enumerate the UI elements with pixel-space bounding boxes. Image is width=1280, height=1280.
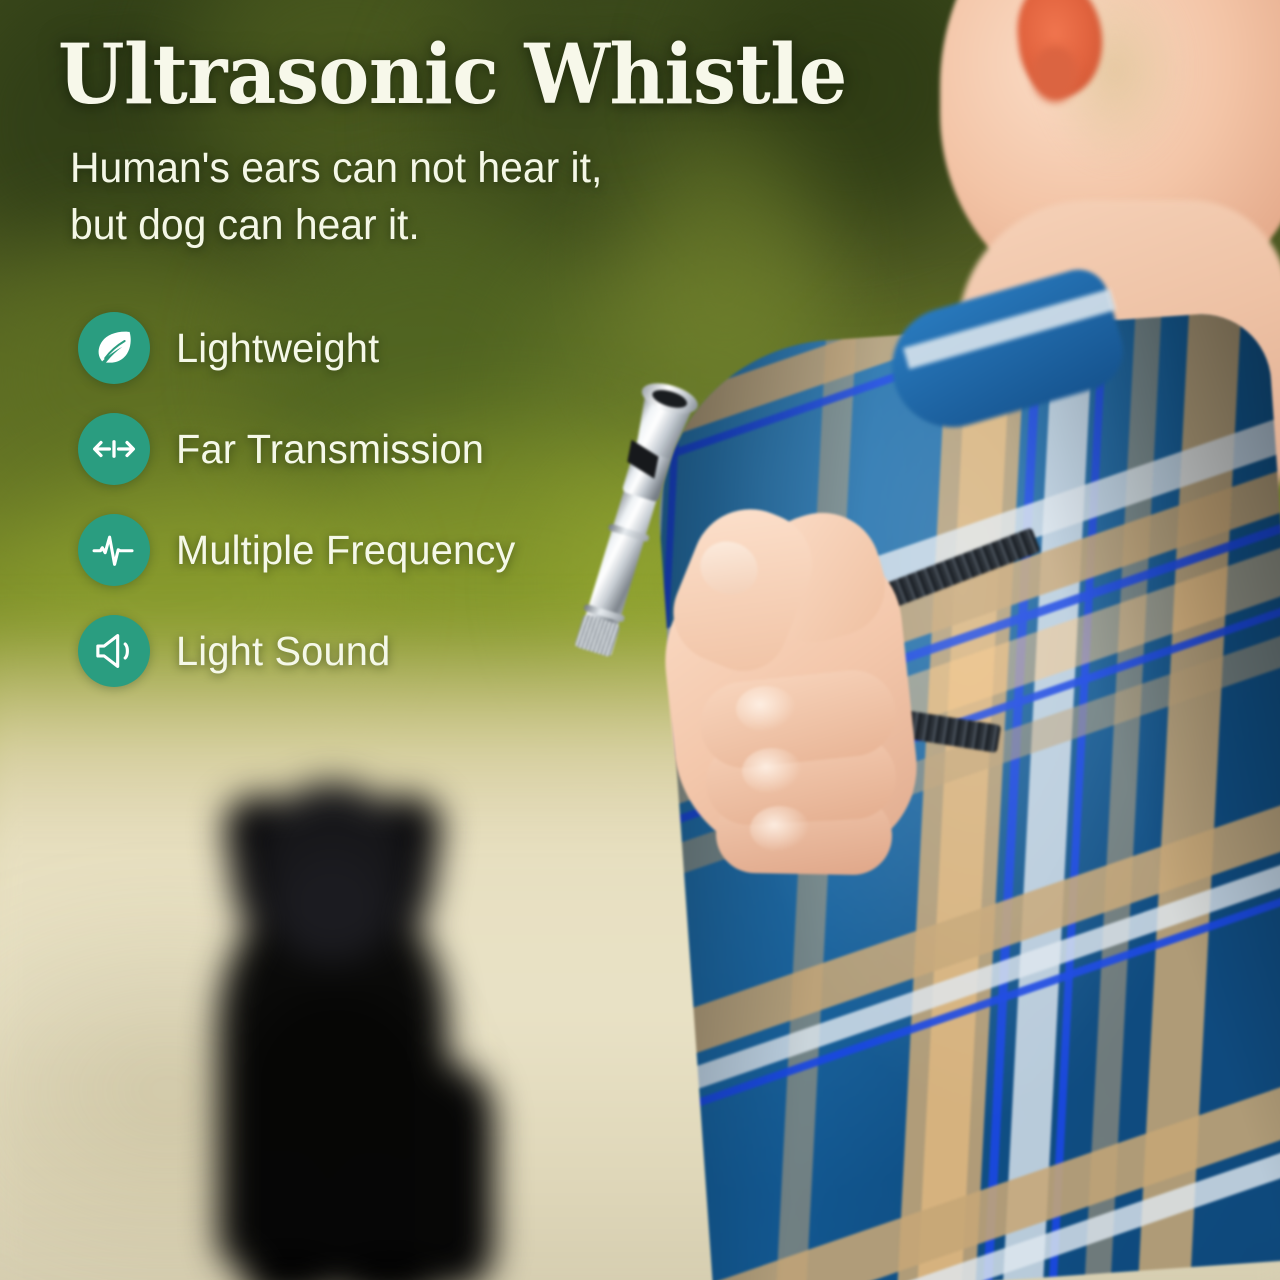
leaf-icon bbox=[92, 326, 136, 370]
product-banner: Ultrasonic Whistle Human's ears can not … bbox=[0, 0, 1280, 1280]
feature-item-light-sound: Light Sound bbox=[78, 615, 526, 687]
speaker-volume-icon bbox=[92, 629, 136, 673]
bidirectional-arrow-icon bbox=[91, 426, 137, 472]
text-overlay: Ultrasonic Whistle Human's ears can not … bbox=[0, 0, 1280, 1280]
feature-item-far-transmission: Far Transmission bbox=[78, 413, 526, 485]
feature-list: Lightweight bbox=[78, 312, 526, 716]
page-title: Ultrasonic Whistle bbox=[58, 34, 847, 116]
feature-label: Multiple Frequency bbox=[176, 527, 515, 574]
subtitle-line-2: but dog can hear it. bbox=[70, 197, 602, 254]
subtitle: Human's ears can not hear it, but dog ca… bbox=[70, 140, 602, 254]
feature-badge bbox=[78, 615, 150, 687]
feature-badge bbox=[78, 312, 150, 384]
feature-badge bbox=[78, 413, 150, 485]
feature-label: Far Transmission bbox=[176, 426, 484, 473]
feature-badge bbox=[78, 514, 150, 586]
feature-item-multiple-frequency: Multiple Frequency bbox=[78, 514, 526, 586]
feature-label: Lightweight bbox=[176, 325, 379, 372]
waveform-pulse-icon bbox=[91, 527, 137, 573]
feature-item-lightweight: Lightweight bbox=[78, 312, 526, 384]
feature-label: Light Sound bbox=[176, 628, 390, 675]
subtitle-line-1: Human's ears can not hear it, bbox=[70, 140, 602, 197]
